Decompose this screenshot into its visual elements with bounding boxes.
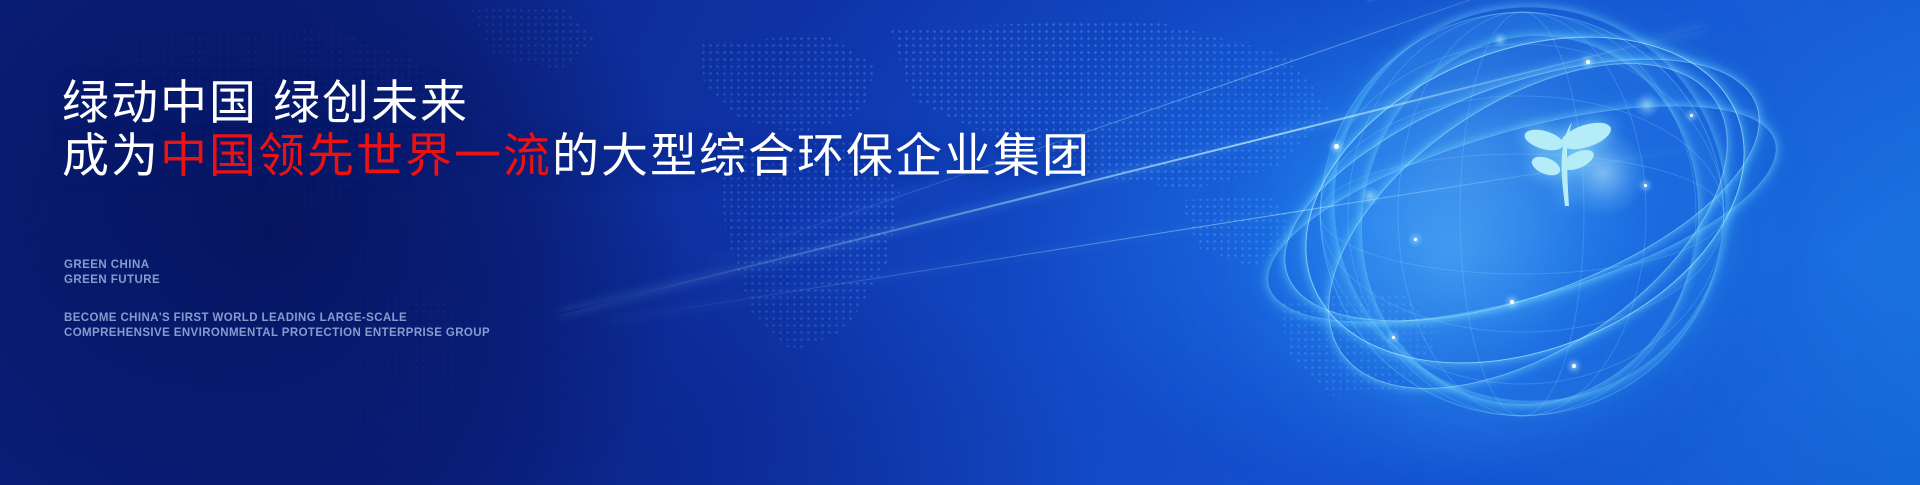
- hero-banner: 绿动中国 绿创未来 成为中国领先世界一流的大型综合环保企业集团 GREEN CH…: [0, 0, 1920, 485]
- headline-prefix: 成为: [62, 129, 160, 182]
- headline-line-2: 成为中国领先世界一流的大型综合环保企业集团: [62, 131, 1091, 182]
- subtitle-line-2: GREEN FUTURE: [64, 273, 160, 288]
- subtitle-line-1: GREEN CHINA: [64, 259, 149, 271]
- copy-block: 绿动中国 绿创未来 成为中国领先世界一流的大型综合环保企业集团 GREEN CH…: [62, 0, 1062, 485]
- description-english: BECOME CHINA'S FIRST WORLD LEADING LARGE…: [64, 311, 490, 341]
- globe-graphic: [1242, 0, 1802, 485]
- sprout-seedling-icon: [1510, 102, 1622, 212]
- subtitle-english: GREEN CHINA GREEN FUTURE: [64, 258, 160, 288]
- headline-suffix: 的大型综合环保企业集团: [552, 129, 1091, 182]
- description-line-1: BECOME CHINA'S FIRST WORLD LEADING LARGE…: [64, 312, 407, 324]
- description-line-2: COMPREHENSIVE ENVIRONMENTAL PROTECTION E…: [64, 326, 490, 341]
- headline-line-1: 绿动中国 绿创未来: [62, 78, 469, 129]
- headline-highlight: 中国领先世界一流: [160, 129, 552, 182]
